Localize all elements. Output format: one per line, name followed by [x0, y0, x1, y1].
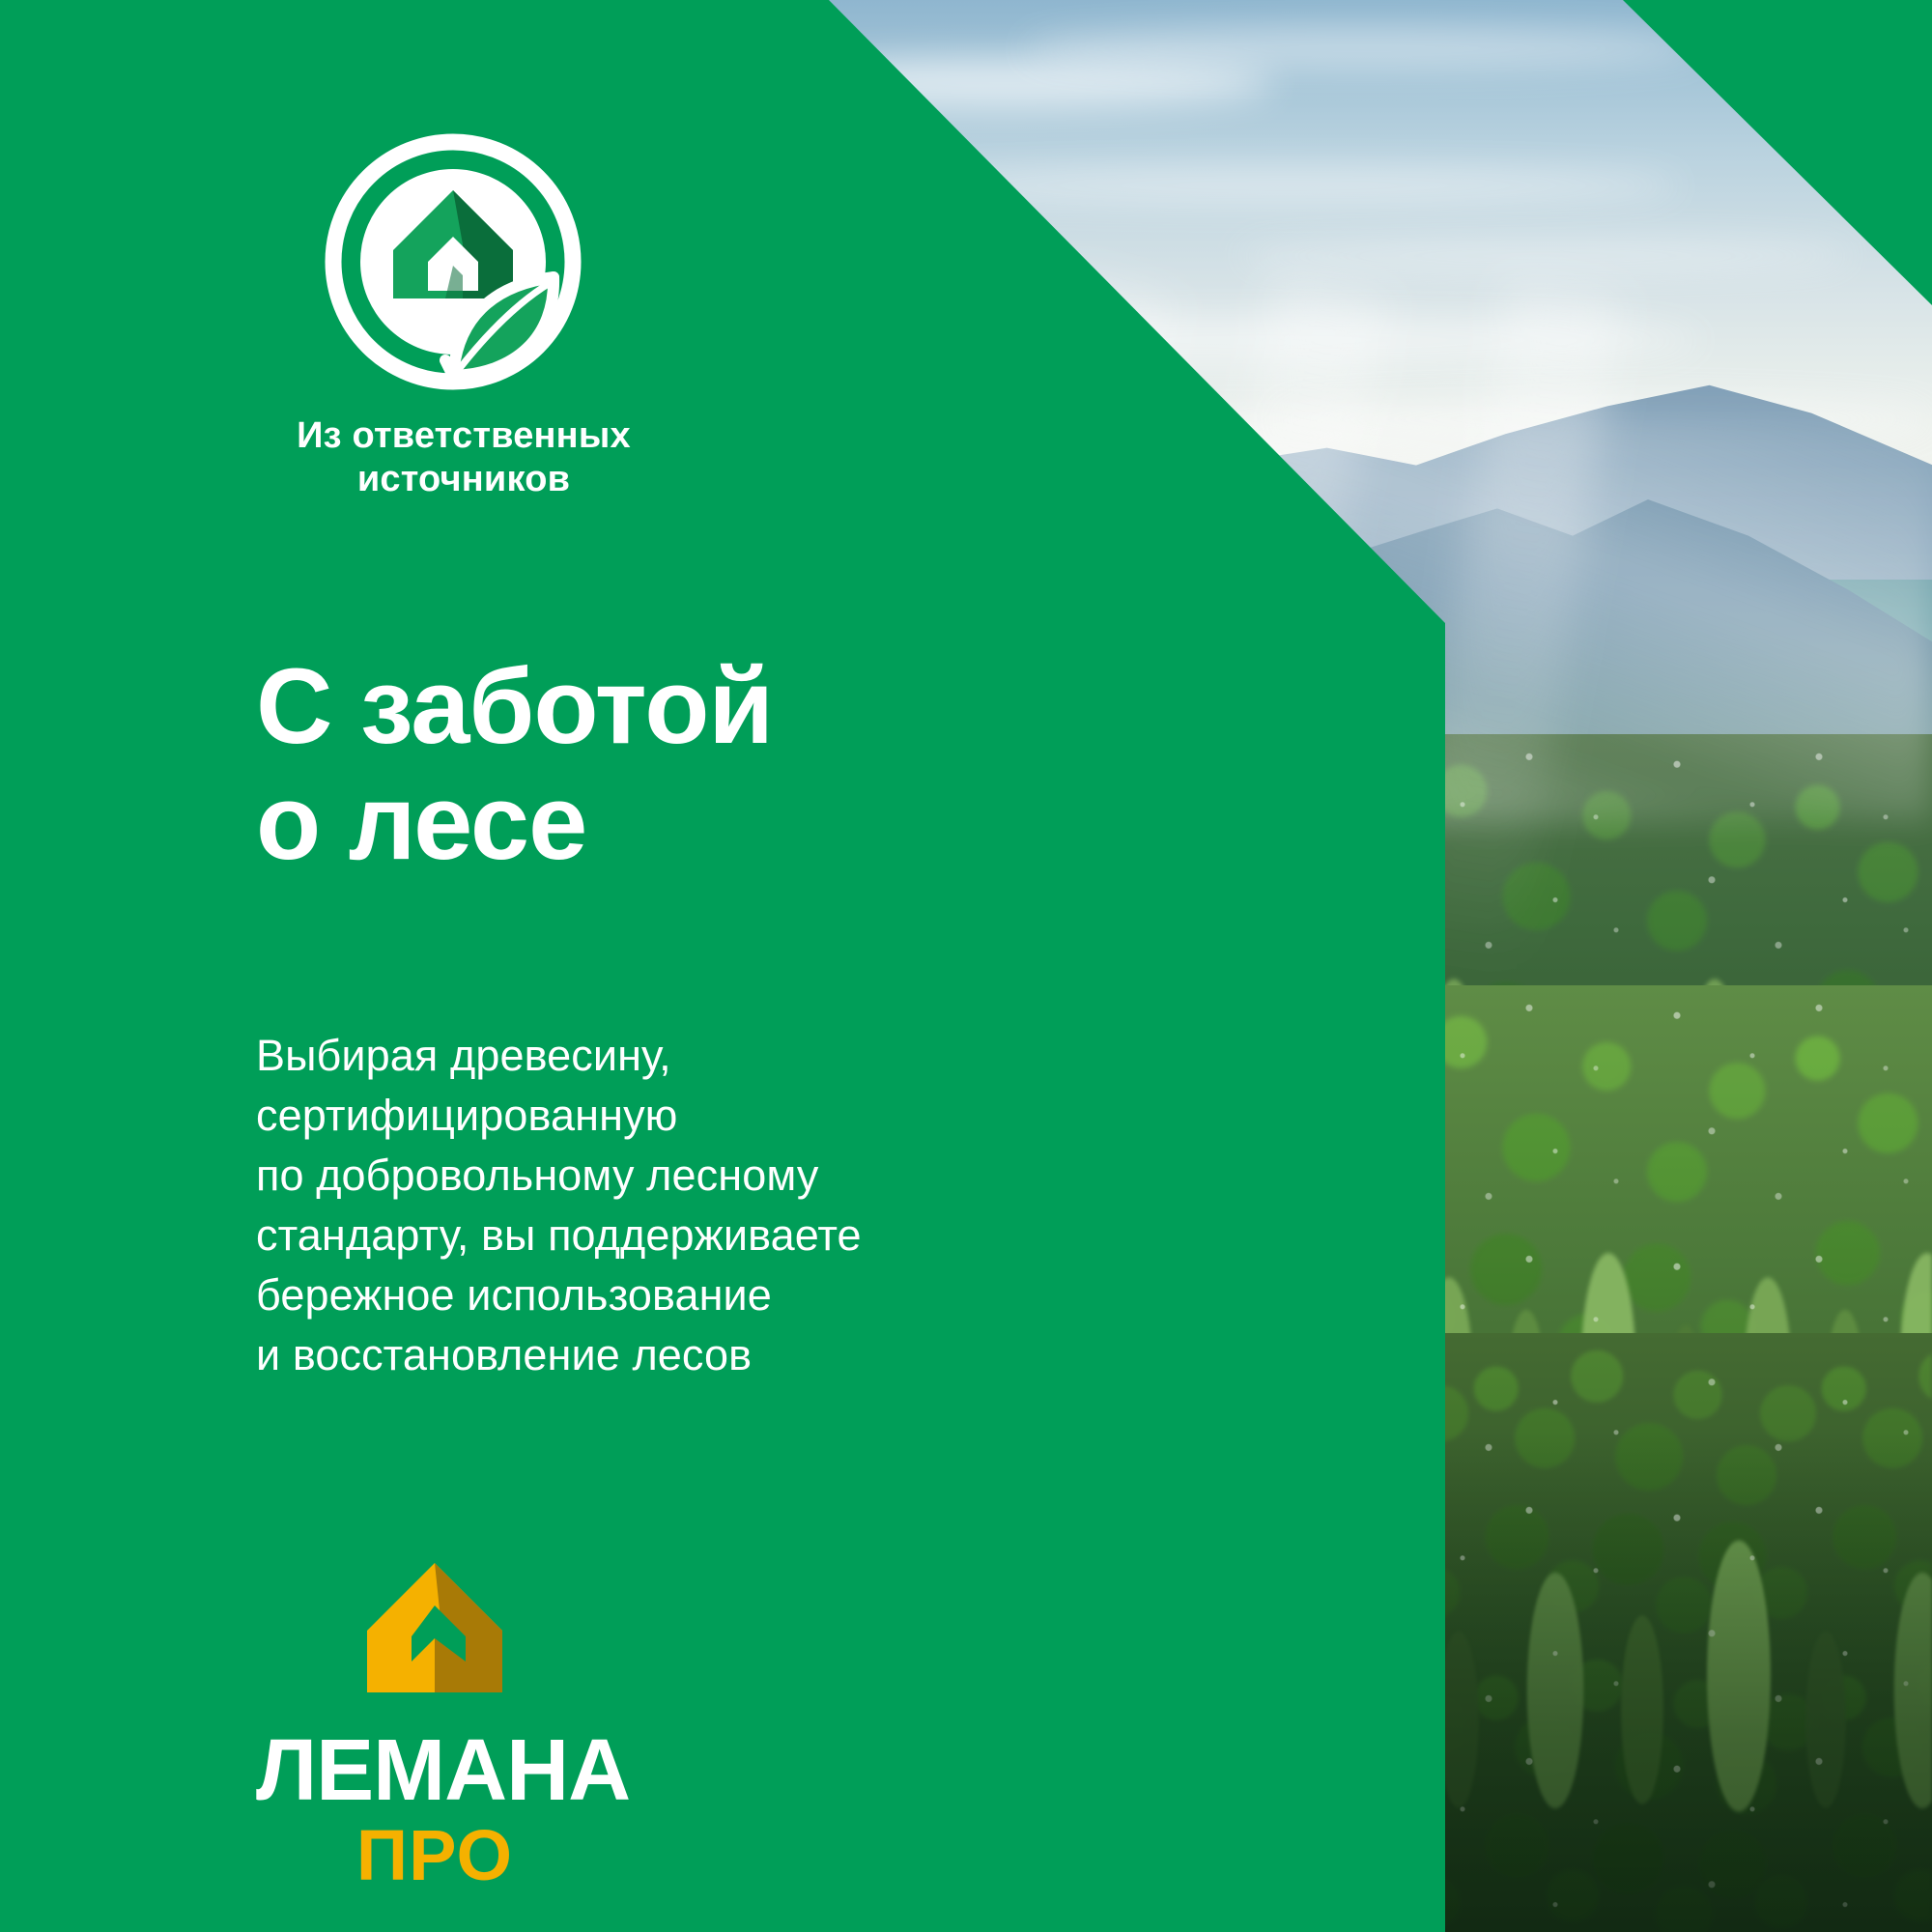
- brand-sub-name: ПРО: [256, 1820, 613, 1891]
- brand-name: ЛЕМАНА: [256, 1727, 613, 1814]
- lemana-house-icon: [357, 1555, 512, 1710]
- certification-badge-caption: Из ответственных источников: [256, 414, 671, 501]
- content-area: Из ответственных источников С заботой о …: [0, 0, 1445, 1932]
- brand-lockup[interactable]: ЛЕМАНА ПРО: [256, 1555, 613, 1891]
- house-leaf-circle-icon: [322, 130, 584, 393]
- certification-badge: Из ответственных источников: [256, 130, 671, 501]
- promo-poster: Из ответственных источников С заботой о …: [0, 0, 1932, 1932]
- page-title: С заботой о лесе: [256, 649, 773, 881]
- body-copy: Выбирая древесину, сертифицированную по …: [256, 1026, 862, 1386]
